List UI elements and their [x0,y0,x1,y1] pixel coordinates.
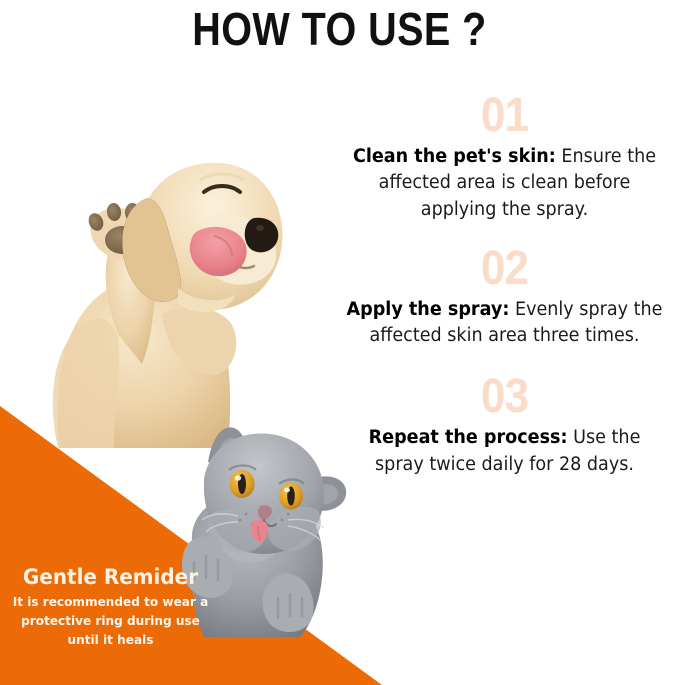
reminder-body: It is recommended to wear a protective r… [12,592,209,649]
how-to-use-infographic: HOW TO USE ? [0,0,679,685]
reminder-title: Gentle Remider [13,566,208,589]
page-title: HOW TO USE ? [48,2,632,56]
gentle-reminder-block: Gentle Remider It is recommended to wear… [8,566,213,650]
step-number-01: 01 [344,92,665,140]
dog-illustration [22,118,322,448]
step-number-03: 03 [344,373,665,421]
step-lead-02: Apply the spray: [347,299,510,320]
step-number-02: 02 [344,245,665,293]
step-item-03: 03 Repeat the process: Use the spray twi… [330,373,679,478]
step-lead-01: Clean the pet's skin: [353,146,556,167]
step-lead-03: Repeat the process: [369,427,568,448]
steps-list: 01 Clean the pet's skin: Ensure the affe… [330,92,679,478]
step-text-01: Clean the pet's skin: Ensure the affecte… [339,144,671,223]
step-text-03: Repeat the process: Use the spray twice … [339,425,671,478]
step-item-01: 01 Clean the pet's skin: Ensure the affe… [330,92,679,223]
step-item-02: 02 Apply the spray: Evenly spray the aff… [330,245,679,350]
step-text-02: Apply the spray: Evenly spray the affect… [339,297,671,350]
